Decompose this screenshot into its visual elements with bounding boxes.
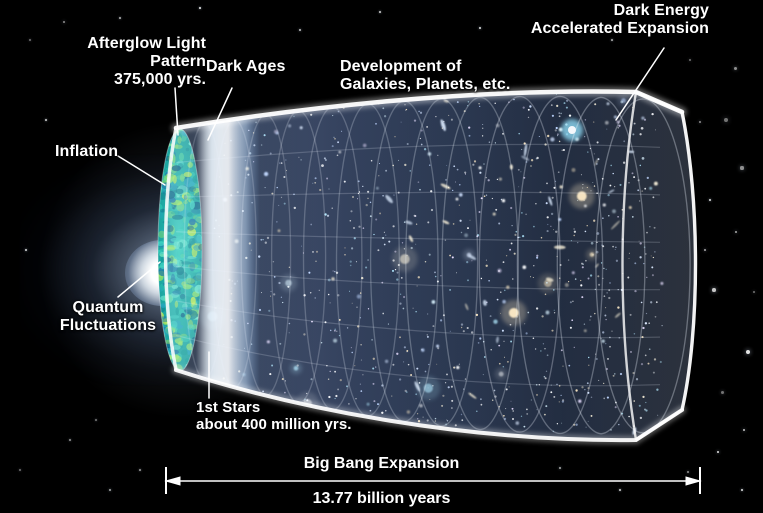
cmb-blob <box>159 127 165 131</box>
cmb-blob <box>158 348 161 352</box>
cmb-blob <box>156 160 161 165</box>
cmb-blob <box>154 360 164 366</box>
universe-timeline-figure: Afterglow Light Pattern 375,000 yrs. Dar… <box>0 0 763 513</box>
cmb-blob <box>159 335 164 339</box>
cmb-blob <box>157 161 162 166</box>
cmb-blob <box>159 142 166 151</box>
cmb-blob <box>158 359 169 367</box>
label-development-of-galaxies: Development of Galaxies, Planets, etc. <box>340 58 510 94</box>
label-quantum-fluctuations: Quantum Fluctuations <box>48 299 168 335</box>
cmb-blob <box>158 146 163 150</box>
cmb-blob <box>158 134 164 137</box>
label-dark-energy: Dark Energy Accelerated Expansion <box>509 2 709 38</box>
cmb-blob <box>157 355 164 359</box>
cmb-blob <box>161 154 166 158</box>
label-afterglow-light: Afterglow Light Pattern 375,000 yrs. <box>58 35 206 89</box>
label-dark-ages: Dark Ages <box>206 58 285 76</box>
cmb-blob <box>158 358 163 367</box>
label-first-stars: 1st Stars about 400 million yrs. <box>196 400 352 434</box>
cmb-blob <box>161 143 168 146</box>
label-big-bang-expansion: Big Bang Expansion <box>0 455 763 473</box>
cmb-blob <box>161 143 172 147</box>
cmb-blob <box>164 133 169 137</box>
cmb-blob <box>160 131 166 140</box>
label-inflation: Inflation <box>55 143 118 161</box>
cmb-blob <box>154 344 164 347</box>
label-duration: 13.77 billion years <box>0 490 763 508</box>
cmb-blob <box>156 166 161 172</box>
cmb-blob <box>155 166 164 171</box>
